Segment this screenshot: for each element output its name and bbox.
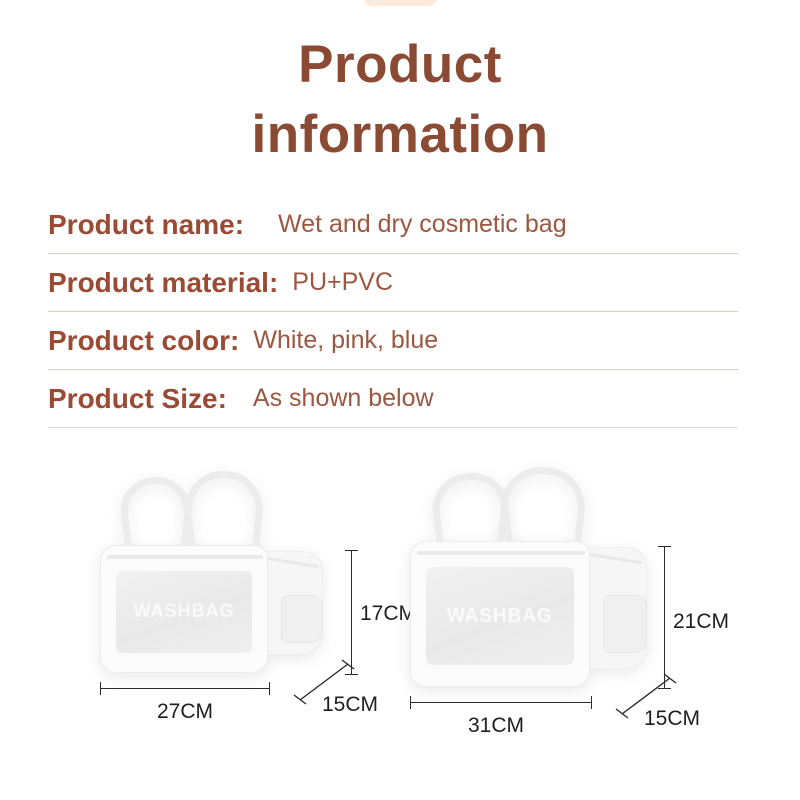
bag-front-window-panel-large: WASHBAG bbox=[421, 562, 579, 670]
spec-label-product-name: Product name: bbox=[48, 209, 244, 241]
dim-cap-height-top-large bbox=[658, 546, 671, 547]
dim-cap-height-top-small bbox=[345, 550, 358, 551]
dim-line-width-large bbox=[410, 702, 592, 703]
spec-label-product-material: Product material: bbox=[48, 267, 278, 299]
spec-label-product-size: Product Size: bbox=[48, 383, 227, 415]
dim-text-width-small: 27CM bbox=[157, 700, 213, 724]
spec-row-product-size: Product Size: As shown below bbox=[48, 370, 738, 428]
bag-panel-label-small: WASHBAG bbox=[134, 601, 235, 623]
bag-side-mesh-pocket-large bbox=[603, 595, 647, 653]
dim-text-depth-large: 15CM bbox=[644, 707, 700, 731]
dim-text-height-large: 21CM bbox=[673, 610, 729, 634]
spec-value-product-name: Wet and dry cosmetic bag bbox=[278, 210, 567, 239]
spec-row-product-color: Product color: White, pink, blue bbox=[48, 312, 738, 370]
product-spec-list: Product name: Wet and dry cosmetic bag P… bbox=[48, 196, 738, 428]
dim-cap-width-right-large bbox=[591, 696, 592, 709]
product-size-gallery: WASHBAG 27CM 17CM 15CM bbox=[0, 455, 800, 800]
bag-front-window-panel-small: WASHBAG bbox=[111, 566, 257, 658]
spec-row-product-material: Product material: PU+PVC bbox=[48, 254, 738, 312]
dim-line-height-small bbox=[351, 550, 352, 675]
page-title-line-2: information bbox=[0, 100, 800, 170]
bag-top-zipper-large bbox=[417, 551, 585, 555]
dim-line-width-small bbox=[100, 688, 270, 689]
dim-text-width-large: 31CM bbox=[468, 714, 524, 738]
spec-value-product-size: As shown below bbox=[253, 384, 434, 413]
dim-cap-width-right-small bbox=[269, 682, 270, 695]
spec-value-product-color: White, pink, blue bbox=[253, 326, 438, 355]
top-edge-pill-decoration bbox=[363, 0, 438, 6]
bag-panel-label-large: WASHBAG bbox=[447, 605, 553, 628]
spec-label-product-color: Product color: bbox=[48, 325, 239, 357]
page-title: Product information bbox=[0, 30, 800, 171]
page-title-line-1: Product bbox=[0, 30, 800, 100]
dim-cap-width-left-small bbox=[100, 682, 101, 695]
spec-value-product-material: PU+PVC bbox=[292, 268, 393, 297]
dim-cap-width-left-large bbox=[410, 696, 411, 709]
bag-top-zipper-small bbox=[107, 555, 263, 559]
dim-text-depth-small: 15CM bbox=[322, 693, 378, 717]
bag-side-mesh-pocket-small bbox=[281, 595, 323, 643]
dim-line-height-large bbox=[664, 546, 665, 689]
spec-row-product-name: Product name: Wet and dry cosmetic bag bbox=[48, 196, 738, 254]
